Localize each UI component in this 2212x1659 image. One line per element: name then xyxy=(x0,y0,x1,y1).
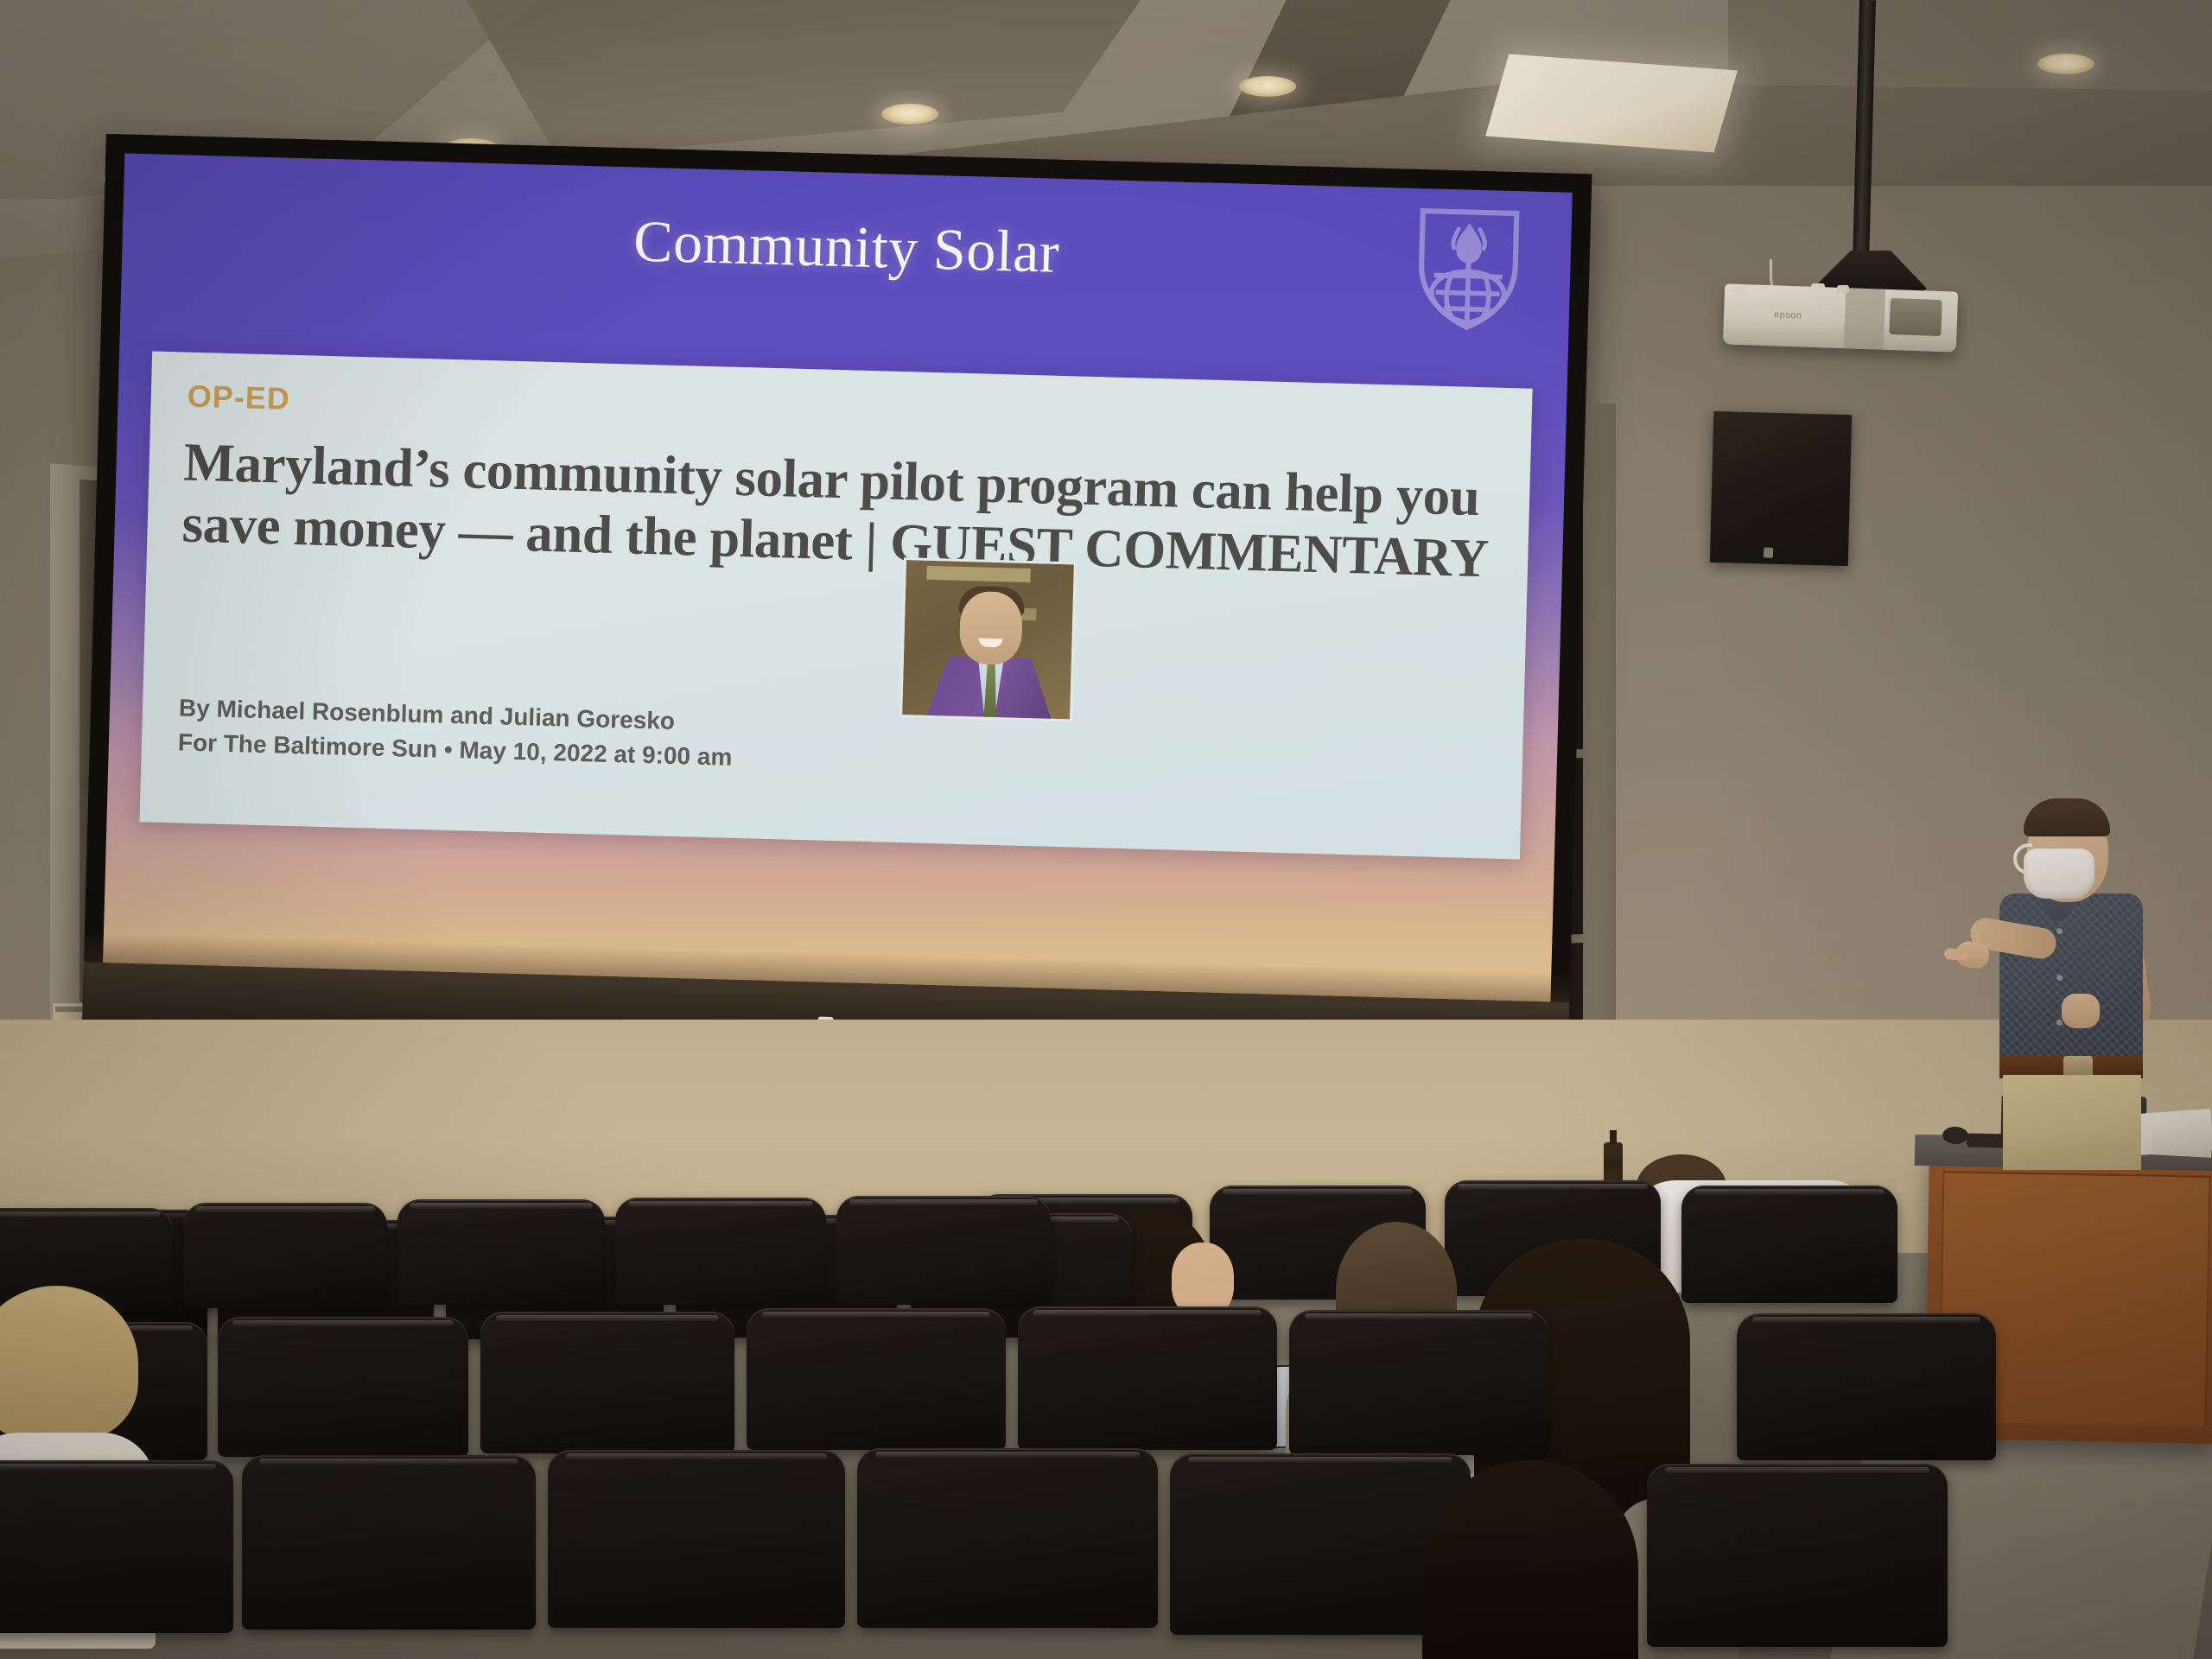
wall-speaker xyxy=(1710,411,1853,566)
auditorium-seat xyxy=(857,1448,1158,1628)
auditorium-seat xyxy=(1647,1464,1948,1647)
auditorium-seat xyxy=(836,1196,1051,1305)
presenter-hair xyxy=(2024,798,2110,836)
lecture-hall-photo: epson Community Solar xyxy=(0,0,2212,1659)
projector-lens-icon xyxy=(1889,298,1942,336)
presenter-shirt-button xyxy=(2056,1020,2063,1026)
article-byline: By Michael Rosenblum and Julian Goresko … xyxy=(177,690,734,774)
auditorium-seat xyxy=(218,1317,468,1457)
presentation-slide: Community Solar OP- xyxy=(103,154,1573,1002)
auditorium-seat xyxy=(397,1199,605,1305)
auditorium-seat xyxy=(1289,1310,1548,1455)
auditorium-seat xyxy=(747,1308,1006,1450)
projector-knob xyxy=(1837,285,1849,293)
presenter-pants xyxy=(2003,1075,2141,1170)
projection-screen: Community Solar OP- xyxy=(81,134,1592,1111)
news-article-card: OP-ED Maryland’s community solar pilot p… xyxy=(139,351,1532,859)
person-hair xyxy=(0,1286,138,1441)
auditorium-seat xyxy=(1018,1306,1277,1450)
projector-knob xyxy=(1811,283,1825,291)
person-hair xyxy=(1422,1460,1638,1659)
headshot-background-bar xyxy=(926,566,1030,582)
ceiling-projector: epson xyxy=(1723,283,1958,352)
article-kicker: OP-ED xyxy=(187,378,290,417)
ceiling-downlight-icon xyxy=(2037,54,2094,74)
ceiling-downlight-icon xyxy=(1239,76,1296,97)
auditorium-seat xyxy=(1737,1313,1996,1460)
audience-person-bottom-center xyxy=(1396,1460,1673,1659)
auditorium-seat xyxy=(0,1460,233,1633)
author-headshot-avatar xyxy=(899,557,1077,721)
headshot-face xyxy=(959,591,1023,665)
auditorium-seat xyxy=(242,1455,536,1630)
presenter-shirt-button xyxy=(2056,975,2063,981)
projector-knob xyxy=(1733,286,1745,295)
presenter-shirt-button xyxy=(2056,928,2063,934)
speaker-indicator-icon xyxy=(1764,548,1773,558)
auditorium-seat xyxy=(615,1198,826,1305)
auditorium-seat xyxy=(548,1450,845,1628)
article-headline: Maryland’s community solar pilot program… xyxy=(181,432,1504,589)
ceiling-panel-light-icon xyxy=(1485,54,1738,153)
presenter-face-mask xyxy=(2024,849,2094,899)
presenter-person xyxy=(1970,797,2169,1160)
presenter-shirt xyxy=(1999,893,2143,1066)
johns-hopkins-shield-logo xyxy=(1413,202,1523,333)
projector-brand-label: epson xyxy=(1774,309,1802,321)
auditorium-seat xyxy=(480,1312,734,1453)
slide-title: Community Solar xyxy=(122,194,1572,301)
presenter-right-hand xyxy=(2062,994,2100,1028)
projector-vent xyxy=(1844,288,1885,350)
auditorium-seat xyxy=(183,1203,387,1308)
podium-mouse xyxy=(1942,1127,1968,1145)
ceiling-downlight-icon xyxy=(881,104,938,124)
presenter-pointing-finger xyxy=(1944,948,1969,961)
